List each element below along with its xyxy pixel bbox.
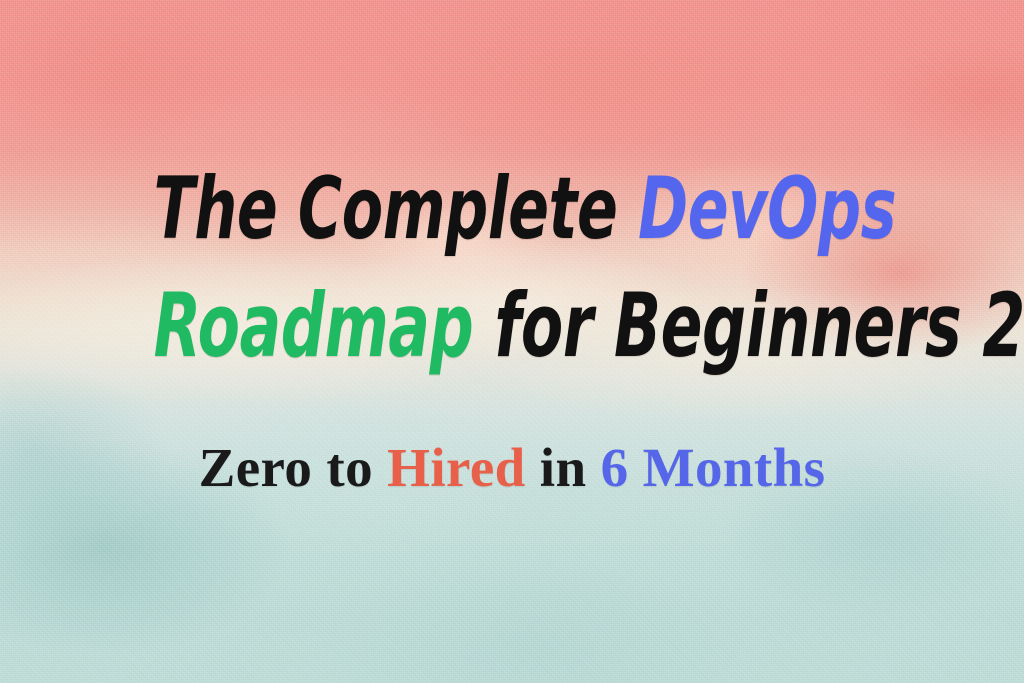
poster-text-block: The Complete DevOps Roadmap for Beginner… — [0, 0, 1024, 683]
title-the-complete: The Complete — [154, 159, 639, 259]
subtitle-hired: Hired — [387, 437, 525, 498]
poster-title-line-2: Roadmap for Beginners 2025 — [154, 282, 871, 370]
poster-title-line-1: The Complete DevOps — [154, 166, 871, 252]
subtitle-six-months: 6 Months — [601, 437, 826, 498]
subtitle-zero-to: Zero to — [199, 437, 388, 498]
title-for-beginners-2025: for Beginners 2025 — [473, 274, 1024, 377]
title-devops: DevOps — [638, 159, 896, 259]
subtitle-in: in — [526, 437, 601, 498]
poster-subtitle: Zero to Hired in 6 Months — [0, 440, 1024, 495]
title-roadmap: Roadmap — [154, 274, 474, 377]
poster-canvas: The Complete DevOps Roadmap for Beginner… — [0, 0, 1024, 683]
